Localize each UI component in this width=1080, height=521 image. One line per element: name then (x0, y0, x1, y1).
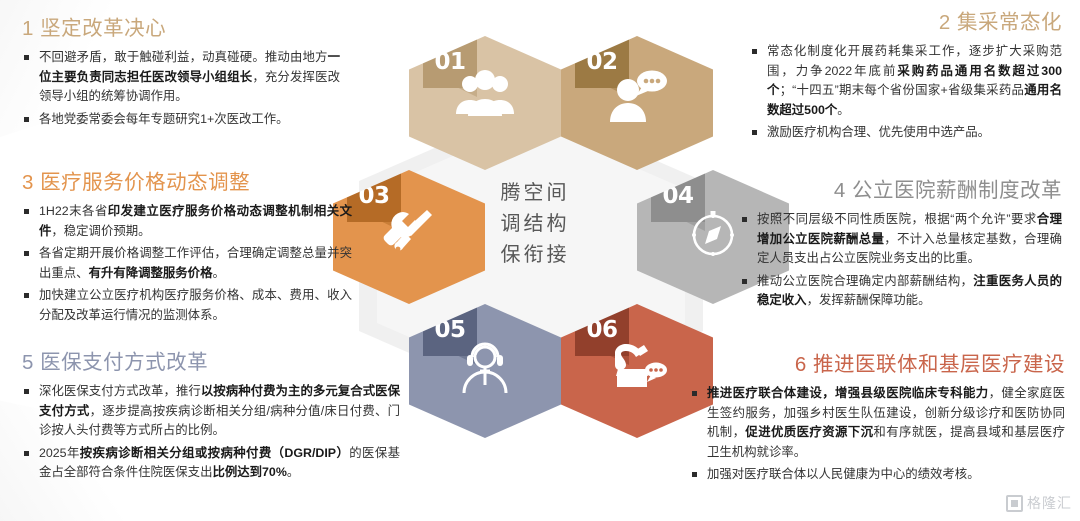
bullet-item: 各省定期开展价格调整工作评估，合理确定调整总量并突出重点、有升有降调整服务价格。 (22, 244, 352, 283)
center-slogan-line: 调结构 (455, 209, 615, 240)
bullet-item: 1H22末各省印发建立医疗服务价格动态调整机制相关文件，稳定调价预期。 (22, 202, 352, 241)
bullet-text: 2025年 (39, 446, 80, 460)
bullet-item: 加快建立公立医疗机构医疗服务价格、成本、费用、收入分配及改革运行情况的监测体系。 (22, 286, 352, 325)
section-title: 6 推进医联体和基层医疗建设 (690, 352, 1065, 378)
section-title: 1 坚定改革决心 (22, 16, 340, 42)
section-bullet-list: 1H22末各省印发建立医疗服务价格动态调整机制相关文件，稳定调价预期。各省定期开… (22, 202, 352, 325)
group-people-icon (409, 70, 561, 120)
bullet-item: 按照不同层级不同性质医院，根据“两个允许”要求合理增加公立医院薪酬总量，不计入总… (740, 210, 1062, 269)
section-block-1: 1 坚定改革决心不回避矛盾，敢于触碰利益，动真碰硬。推动由地方一位主要负责同志担… (22, 16, 340, 132)
watermark-text: 格隆汇 (1027, 493, 1072, 513)
section-block-2: 2 集采常态化常态化制度化开展药耗集采工作，逐步扩大采购范围，力争2022年底前… (750, 10, 1062, 146)
bullet-item: 常态化制度化开展药耗集采工作，逐步扩大采购范围，力争2022年底前采购药品通用名… (750, 42, 1062, 120)
bullet-item: 加强对医疗联合体以人民健康为中心的绩效考核。 (690, 465, 1065, 485)
bullet-emphasis: 按疾病诊断相关分组或按病种付费（DGR/DIP） (80, 446, 349, 460)
section-block-4: 4 公立医院薪酬制度改革按照不同层级不同性质医院，根据“两个允许”要求合理增加公… (740, 178, 1062, 314)
bullet-text: ；“十四五”期末每个省份国家+省级集采药品 (780, 83, 1025, 97)
bullet-emphasis: 推进医疗联合体建设，增强县级医院临床专科能力 (707, 386, 989, 400)
bullet-item: 2025年按疾病诊断相关分组或按病种付费（DGR/DIP）的医保基金占全部符合条… (22, 444, 400, 483)
section-bullet-list: 按照不同层级不同性质医院，根据“两个允许”要求合理增加公立医院薪酬总量，不计入总… (740, 210, 1062, 311)
bullet-text: 按照不同层级不同性质医院，根据“两个允许”要求 (757, 212, 1037, 226)
section-bullet-list: 推进医疗联合体建设，增强县级医院临床专科能力，健全家庭医生签约服务，加强乡村医生… (690, 384, 1065, 485)
bullet-text: 1H22末各省 (39, 204, 108, 218)
bullet-text: 加强对医疗联合体以人民健康为中心的绩效考核。 (707, 467, 980, 481)
bullet-text: ，发挥薪酬保障功能。 (807, 293, 931, 307)
bullet-text: 推动公立医院合理确定内部薪酬结构， (757, 274, 973, 288)
section-title: 3 医疗服务价格动态调整 (22, 170, 352, 196)
bullet-text: 加快建立公立医疗机构医疗服务价格、成本、费用、收入分配及改革运行情况的监测体系。 (39, 288, 352, 322)
bullet-item: 各地党委常委会每年专题研究1+次医改工作。 (22, 110, 340, 130)
watermark-logo-icon (1006, 495, 1023, 512)
center-slogan-line: 腾空间 (455, 178, 615, 209)
headset-support-icon (409, 338, 561, 394)
bullet-item: 激励医疗机构合理、优先使用中选产品。 (750, 123, 1062, 143)
bullet-emphasis: 促进优质医疗资源下沉 (745, 425, 873, 439)
bullet-emphasis: 有升有降调整服务价格 (89, 266, 213, 280)
section-bullet-list: 不回避矛盾，敢于触碰利益，动真碰硬。推动由地方一位主要负责同志担任医改领导小组组… (22, 48, 340, 129)
bullet-text: 激励医疗机构合理、优先使用中选产品。 (767, 125, 990, 139)
bullet-text: 。 (837, 103, 849, 117)
section-block-3: 3 医疗服务价格动态调整1H22末各省印发建立医疗服务价格动态调整机制相关文件，… (22, 170, 352, 328)
bullet-text: 深化医保支付方式改革，推行 (39, 384, 201, 398)
bullet-text: 。 (287, 465, 299, 479)
bullet-item: 推进医疗联合体建设，增强县级医院临床专科能力，健全家庭医生签约服务，加强乡村医生… (690, 384, 1065, 462)
bullet-item: 不回避矛盾，敢于触碰利益，动真碰硬。推动由地方一位主要负责同志担任医改领导小组组… (22, 48, 340, 107)
bullet-text: 不回避矛盾，敢于触碰利益，动真碰硬。推动由地方 (39, 50, 328, 64)
bullet-item: 深化医保支付方式改革，推行以按病种付费为主的多元复合式医保支付方式，逐步提高按疾… (22, 382, 400, 441)
section-title: 4 公立医院薪酬制度改革 (740, 178, 1062, 204)
bullet-text: ，逐步提高按疾病诊断相关分组/病种分值/床日付费、门诊按人头付费等方式所占的比例… (39, 404, 400, 438)
section-block-6: 6 推进医联体和基层医疗建设推进医疗联合体建设，增强县级医院临床专科能力，健全家… (690, 352, 1065, 488)
section-title: 5 医保支付方式改革 (22, 350, 400, 376)
watermark: 格隆汇 (1006, 493, 1072, 513)
person-speech-bubble-icon (561, 70, 713, 124)
bullet-text: 。 (212, 266, 224, 280)
slide-canvas: 01 02 (0, 0, 1080, 521)
section-bullet-list: 深化医保支付方式改革，推行以按病种付费为主的多元复合式医保支付方式，逐步提高按疾… (22, 382, 400, 483)
bullet-emphasis: 比例达到70% (212, 465, 286, 479)
center-slogan: 腾空间调结构保衔接 (455, 178, 615, 271)
section-bullet-list: 常态化制度化开展药耗集采工作，逐步扩大采购范围，力争2022年底前采购药品通用名… (750, 42, 1062, 143)
bullet-text: 各地党委常委会每年专题研究1+次医改工作。 (39, 112, 289, 126)
section-title: 2 集采常态化 (750, 10, 1062, 36)
bullet-text: ，稳定调价预期。 (51, 224, 150, 238)
bullet-item: 推动公立医院合理确定内部薪酬结构，注重医务人员的稳定收入，发挥薪酬保障功能。 (740, 272, 1062, 311)
section-block-5: 5 医保支付方式改革深化医保支付方式改革，推行以按病种付费为主的多元复合式医保支… (22, 350, 400, 486)
center-slogan-line: 保衔接 (455, 240, 615, 271)
